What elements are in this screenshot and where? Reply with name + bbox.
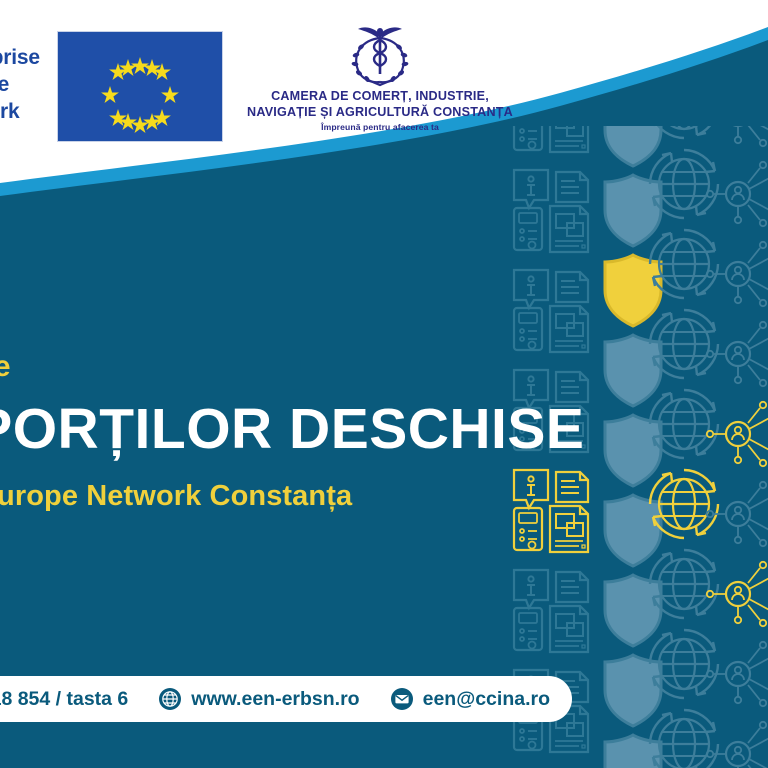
een-logo-line3: Network <box>0 98 34 125</box>
ccina-tagline: Împreună pentru afacerea ta <box>230 122 530 132</box>
eu-flag-icon <box>57 31 223 142</box>
event-date: 11 noiembrie <box>0 350 585 384</box>
ccina-line2: NAVIGAȚIE ȘI AGRICULTURĂ CONSTANȚA <box>230 104 530 120</box>
contact-email-text: een@ccina.ro <box>423 688 550 711</box>
main-text-block: 11 noiembrie ZIUA PORȚILOR DESCHISE Ente… <box>0 350 585 513</box>
een-logo: Enterprise Europe Network <box>0 44 34 125</box>
contact-website-text: www.een-erbsn.ro <box>191 688 359 711</box>
ccina-line1: CAMERA DE COMERȚ, INDUSTRIE, <box>230 88 530 104</box>
contact-bar: 0241 618 854 / tasta 6 www.een-erbsn.ro <box>0 676 572 722</box>
shield-icon-highlight <box>605 255 661 326</box>
envelope-icon <box>390 687 414 711</box>
globe-arrows-icon-highlight <box>650 470 718 538</box>
page-title: ZIUA PORȚILOR DESCHISE <box>0 398 585 460</box>
ccina-logo: CAMERA DE COMERȚ, INDUSTRIE, NAVIGAȚIE Ș… <box>230 22 530 132</box>
contact-phone[interactable]: 0241 618 854 / tasta 6 <box>0 687 128 711</box>
event-subtitle: Enterprise Europe Network Constanța <box>0 480 585 513</box>
pattern-column-shields <box>605 126 661 768</box>
contact-website[interactable]: www.een-erbsn.ro <box>158 687 359 711</box>
network-nodes-icon-highlight-a <box>707 398 768 470</box>
een-logo-line2: Europe <box>0 71 34 98</box>
globe-icon <box>158 687 182 711</box>
contact-phone-text: 0241 618 854 / tasta 6 <box>0 688 128 711</box>
een-logo-line1: Enterprise <box>0 44 34 71</box>
poster-header: Enterprise Europe Network <box>0 0 768 160</box>
network-nodes-icon-highlight-b <box>707 558 768 630</box>
poster-canvas: Enterprise Europe Network <box>0 0 768 768</box>
contact-email[interactable]: een@ccina.ro <box>390 687 550 711</box>
caduceus-icon <box>344 22 416 88</box>
